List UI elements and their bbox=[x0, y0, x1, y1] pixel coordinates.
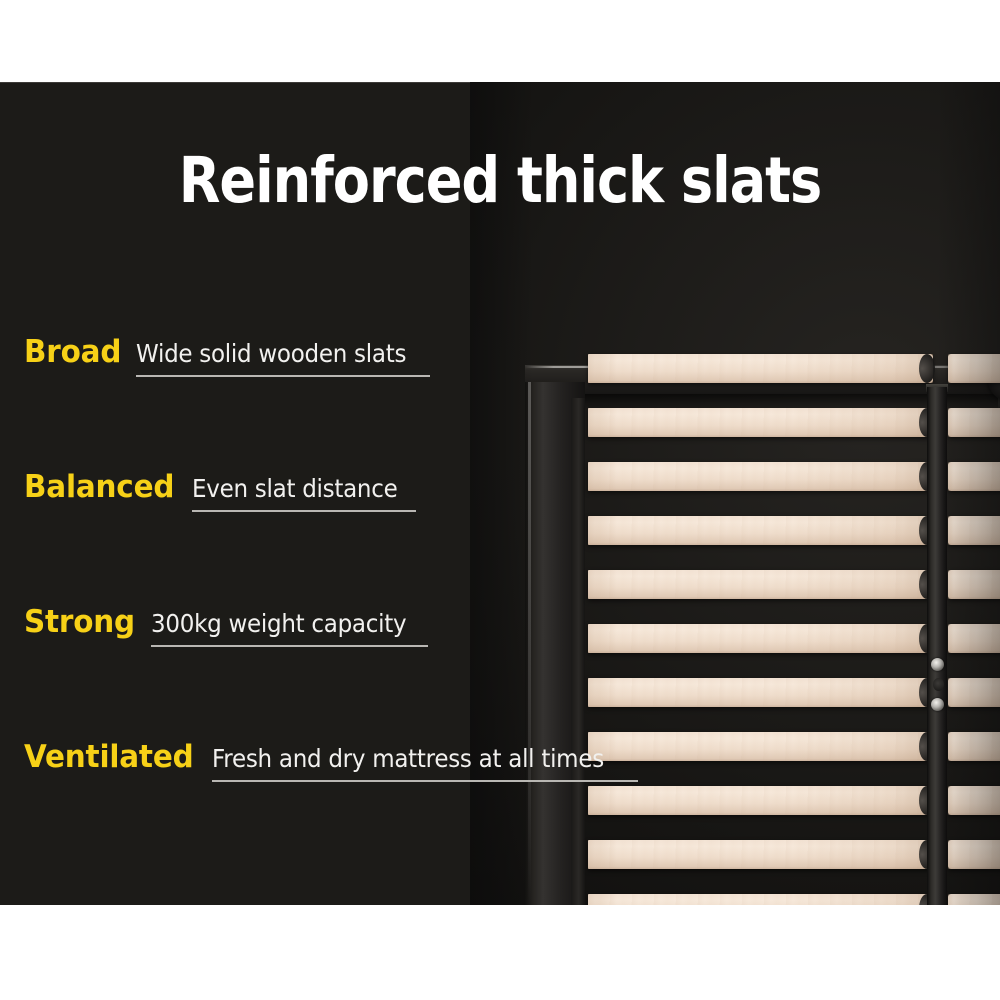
wooden-slat bbox=[948, 570, 1000, 599]
wooden-slat bbox=[588, 894, 933, 905]
post-fitting bbox=[933, 678, 944, 691]
feature-description-underline: Fresh and dry mattress at all times bbox=[212, 744, 638, 782]
slat-grain bbox=[588, 894, 933, 905]
slat-grain bbox=[588, 732, 933, 761]
slat-grain bbox=[588, 354, 933, 383]
wooden-slat bbox=[948, 678, 1000, 707]
feature-item-ventilated: Ventilated Fresh and dry mattress at all… bbox=[24, 739, 584, 874]
slat-grain bbox=[588, 624, 933, 653]
slat-grain bbox=[588, 462, 933, 491]
dark-panel: Reinforced thick slats Broad Wide solid … bbox=[0, 82, 1000, 905]
feature-description: Even slat distance bbox=[192, 474, 397, 503]
wooden-slat bbox=[948, 462, 1000, 491]
feature-description-underline: Wide solid wooden slats bbox=[136, 339, 430, 377]
slat-grain bbox=[588, 516, 933, 545]
slat-grain bbox=[588, 408, 933, 437]
feature-key: Broad bbox=[24, 334, 121, 370]
wooden-slat bbox=[588, 408, 933, 437]
feature-list: Broad Wide solid wooden slats Balanced E… bbox=[24, 334, 584, 874]
wooden-slat bbox=[948, 516, 1000, 545]
slat-grain bbox=[588, 786, 933, 815]
feature-key: Ventilated bbox=[24, 739, 194, 775]
post-screw-lower-icon bbox=[931, 698, 944, 711]
slat-grain bbox=[588, 570, 933, 599]
slat-grain bbox=[948, 570, 1000, 599]
wooden-slat bbox=[588, 516, 933, 545]
wooden-slat bbox=[948, 354, 1000, 383]
feature-key: Strong bbox=[24, 604, 135, 640]
wooden-slat bbox=[948, 840, 1000, 869]
wooden-slat bbox=[948, 786, 1000, 815]
wooden-slat bbox=[588, 462, 933, 491]
wooden-slat bbox=[948, 624, 1000, 653]
feature-description-underline: 300kg weight capacity bbox=[151, 609, 429, 647]
wooden-slat bbox=[588, 786, 933, 815]
slat-grain bbox=[948, 786, 1000, 815]
center-support-post bbox=[927, 387, 947, 905]
wooden-slat bbox=[948, 894, 1000, 905]
page-title: Reinforced thick slats bbox=[70, 144, 930, 217]
feature-description: Wide solid wooden slats bbox=[136, 339, 406, 368]
wooden-slat bbox=[588, 354, 933, 383]
product-feature-image: Reinforced thick slats Broad Wide solid … bbox=[0, 0, 1000, 1000]
post-screw-upper-icon bbox=[931, 658, 944, 671]
slat-grain bbox=[948, 516, 1000, 545]
wooden-slat bbox=[588, 570, 933, 599]
slat-grain bbox=[588, 840, 933, 869]
feature-description-underline: Even slat distance bbox=[192, 474, 415, 512]
wooden-slat bbox=[588, 678, 933, 707]
slat-grain bbox=[948, 840, 1000, 869]
wooden-slat bbox=[588, 732, 933, 761]
slat-grain bbox=[588, 678, 933, 707]
slat-grain bbox=[948, 462, 1000, 491]
slat-grain bbox=[948, 624, 1000, 653]
feature-item-balanced: Balanced Even slat distance bbox=[24, 469, 584, 604]
slat-end-cap bbox=[919, 354, 935, 383]
slat-grain bbox=[948, 894, 1000, 905]
feature-key: Balanced bbox=[24, 469, 174, 505]
feature-description: Fresh and dry mattress at all times bbox=[212, 744, 604, 773]
wooden-slat bbox=[948, 732, 1000, 761]
feature-description: 300kg weight capacity bbox=[151, 609, 406, 638]
feature-item-strong: Strong 300kg weight capacity bbox=[24, 604, 584, 739]
slat-grain bbox=[948, 678, 1000, 707]
feature-item-broad: Broad Wide solid wooden slats bbox=[24, 334, 584, 469]
slat-grain bbox=[948, 408, 1000, 437]
slat-grain bbox=[948, 354, 1000, 383]
wooden-slat bbox=[588, 840, 933, 869]
wooden-slat bbox=[588, 624, 933, 653]
wooden-slat bbox=[948, 408, 1000, 437]
slat-grain bbox=[948, 732, 1000, 761]
